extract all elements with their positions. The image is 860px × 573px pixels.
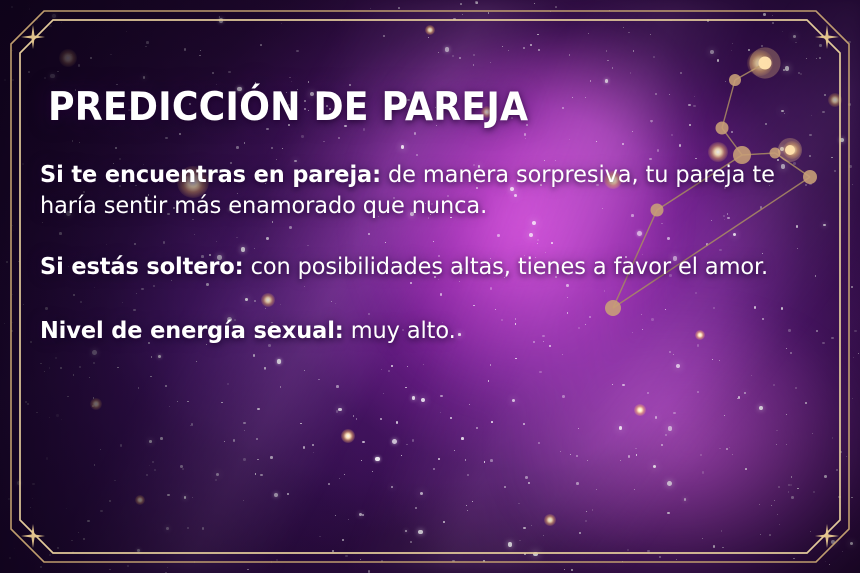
page-title: PREDICCIÓN DE PAREJA	[48, 88, 766, 129]
paragraph-pareja: Si te encuentras en pareja: de manera so…	[40, 159, 815, 222]
paragraph-soltero: Si estás soltero: con posibilidades alta…	[40, 251, 815, 282]
paragraph-energia-label: Nivel de energía sexual:	[40, 316, 344, 344]
paragraph-pareja-label: Si te encuentras en pareja:	[40, 160, 381, 188]
paragraph-soltero-label: Si estás soltero:	[40, 252, 244, 280]
paragraph-energia-text: muy alto.	[344, 316, 456, 344]
paragraph-energia: Nivel de energía sexual: muy alto.	[40, 315, 815, 346]
horoscope-prediction-card: PREDICCIÓN DE PAREJA Si te encuentras en…	[0, 0, 860, 573]
paragraph-soltero-text: con posibilidades altas, tienes a favor …	[244, 252, 769, 280]
card-content: PREDICCIÓN DE PAREJA Si te encuentras en…	[40, 88, 820, 346]
